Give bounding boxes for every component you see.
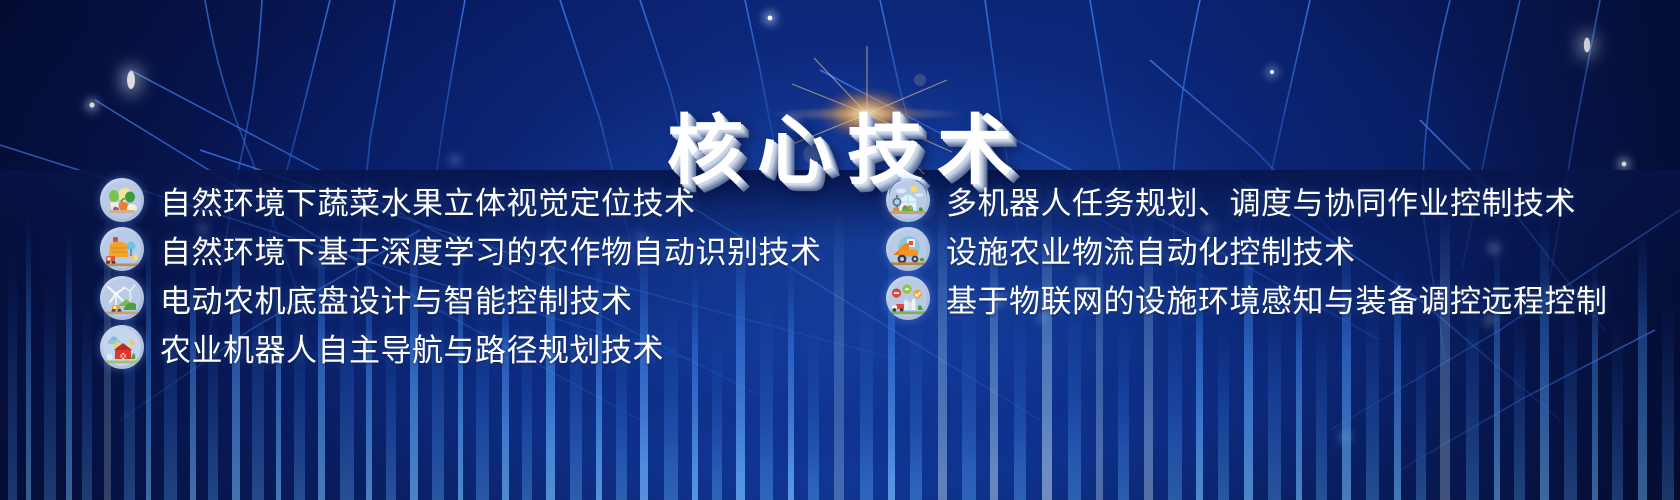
list-item[interactable]: 自然环境下蔬菜水果立体视觉定位技术: [100, 176, 836, 224]
harvest-storage-icon: [100, 227, 144, 271]
list-item-label: 电动农机底盘设计与智能控制技术: [160, 276, 633, 321]
list-item[interactable]: 基于物联网的设施环境感知与装备调控远程控制: [886, 274, 1680, 322]
list-item-label: 农业机器人自主导航与路径规划技术: [160, 325, 664, 370]
technology-lists: 自然环境下蔬菜水果立体视觉定位技术: [0, 176, 1680, 372]
list-item[interactable]: 自然环境下基于深度学习的农作物自动识别技术: [100, 225, 836, 273]
red-barn-icon: [100, 325, 144, 369]
list-item[interactable]: 多机器人任务规划、调度与协同作业控制技术: [886, 176, 1680, 224]
windmill-farm-icon: [100, 276, 144, 320]
list-item[interactable]: 电动农机底盘设计与智能控制技术: [100, 274, 836, 322]
list-item-label: 设施农业物流自动化控制技术: [946, 227, 1356, 272]
list-item-label: 自然环境下蔬菜水果立体视觉定位技术: [160, 178, 696, 223]
left-column: 自然环境下蔬菜水果立体视觉定位技术: [0, 176, 836, 372]
list-item-label: 自然环境下基于深度学习的农作物自动识别技术: [160, 227, 822, 272]
greenhouse-icon: [886, 178, 930, 222]
tractor-loader-icon: [886, 227, 930, 271]
right-column: 多机器人任务规划、调度与协同作业控制技术: [836, 176, 1680, 372]
list-item-label: 多机器人任务规划、调度与协同作业控制技术: [946, 178, 1576, 223]
core-technology-banner: 核心技术: [0, 0, 1680, 500]
list-item[interactable]: 设施农业物流自动化控制技术: [886, 225, 1680, 273]
vegetable-basket-icon: [100, 178, 144, 222]
list-item-label: 基于物联网的设施环境感知与装备调控远程控制: [946, 276, 1608, 321]
iot-factory-icon: [886, 276, 930, 320]
list-item[interactable]: 农业机器人自主导航与路径规划技术: [100, 323, 836, 371]
